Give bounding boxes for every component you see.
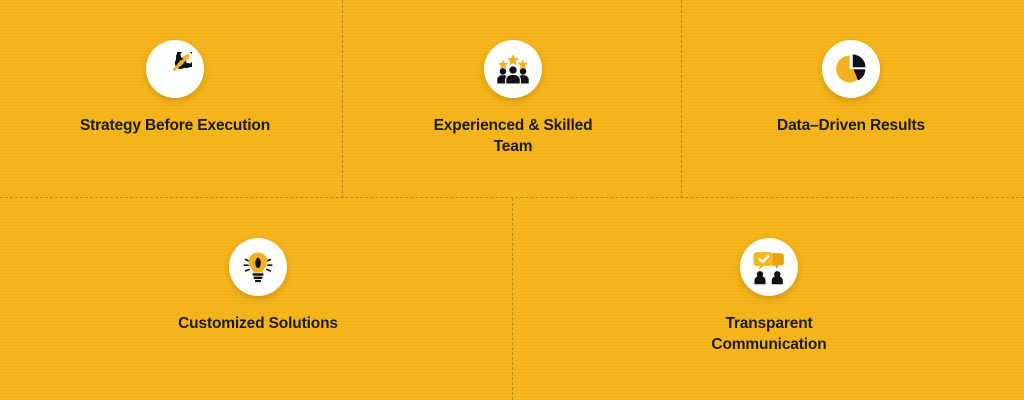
feature-card-data[interactable]: Data–Driven Results — [706, 40, 996, 136]
feature-grid-section: Strategy Before Execution — [0, 0, 1024, 400]
icon-badge-strategy — [146, 40, 204, 98]
divider-vertical-bottom-center — [512, 198, 513, 400]
speech-bubbles-people-icon — [751, 249, 787, 285]
divider-vertical-top-left — [342, 0, 343, 198]
feature-card-strategy[interactable]: Strategy Before Execution — [30, 40, 320, 136]
icon-badge-team — [484, 40, 542, 98]
feature-card-label-team: Experienced & Skilled Team — [434, 115, 593, 158]
feature-card-transparent[interactable]: Transparent Communication — [624, 238, 914, 356]
feature-card-label-data: Data–Driven Results — [777, 115, 925, 136]
feature-card-label-customized: Customized Solutions — [178, 313, 338, 334]
icon-badge-customized — [229, 238, 287, 296]
feature-card-label-strategy: Strategy Before Execution — [80, 115, 270, 136]
icon-badge-transparent — [740, 238, 798, 296]
feature-card-team[interactable]: Experienced & Skilled Team — [368, 40, 658, 158]
feature-card-label-transparent: Transparent Communication — [711, 313, 826, 356]
divider-vertical-top-right — [681, 0, 682, 198]
feature-card-customized[interactable]: Customized Solutions — [113, 238, 403, 334]
three-people-stars-icon — [495, 51, 531, 87]
pie-chart-icon — [834, 52, 868, 86]
lightbulb-icon — [241, 250, 275, 284]
target-arrow-icon — [158, 52, 192, 86]
icon-badge-data — [822, 40, 880, 98]
